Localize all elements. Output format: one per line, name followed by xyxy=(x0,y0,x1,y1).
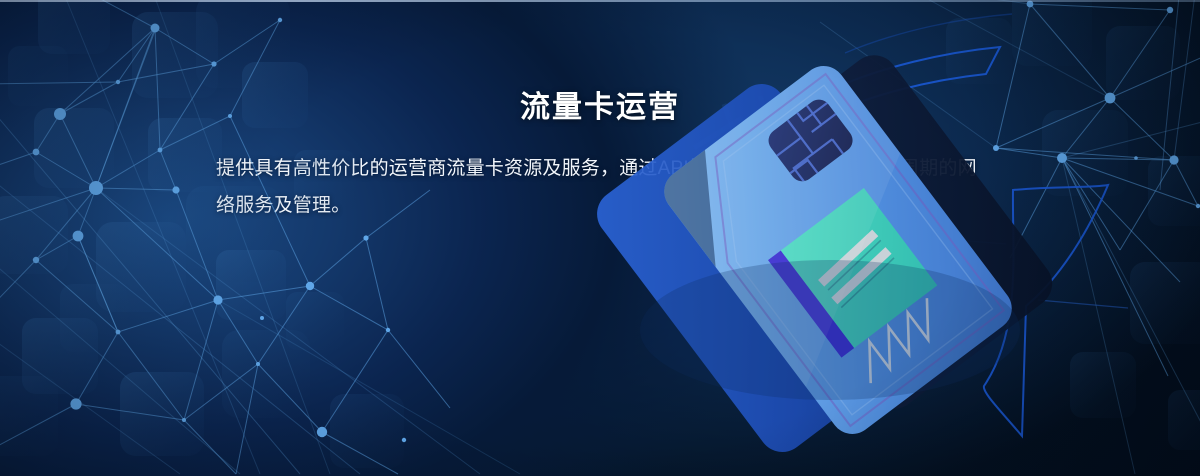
sim-card-illustration xyxy=(0,0,1200,476)
top-hairline xyxy=(0,0,1200,2)
promo-banner: 流量卡运营 提供具有高性价比的运营商流量卡资源及服务，通过API接口可以实现产品… xyxy=(0,0,1200,476)
